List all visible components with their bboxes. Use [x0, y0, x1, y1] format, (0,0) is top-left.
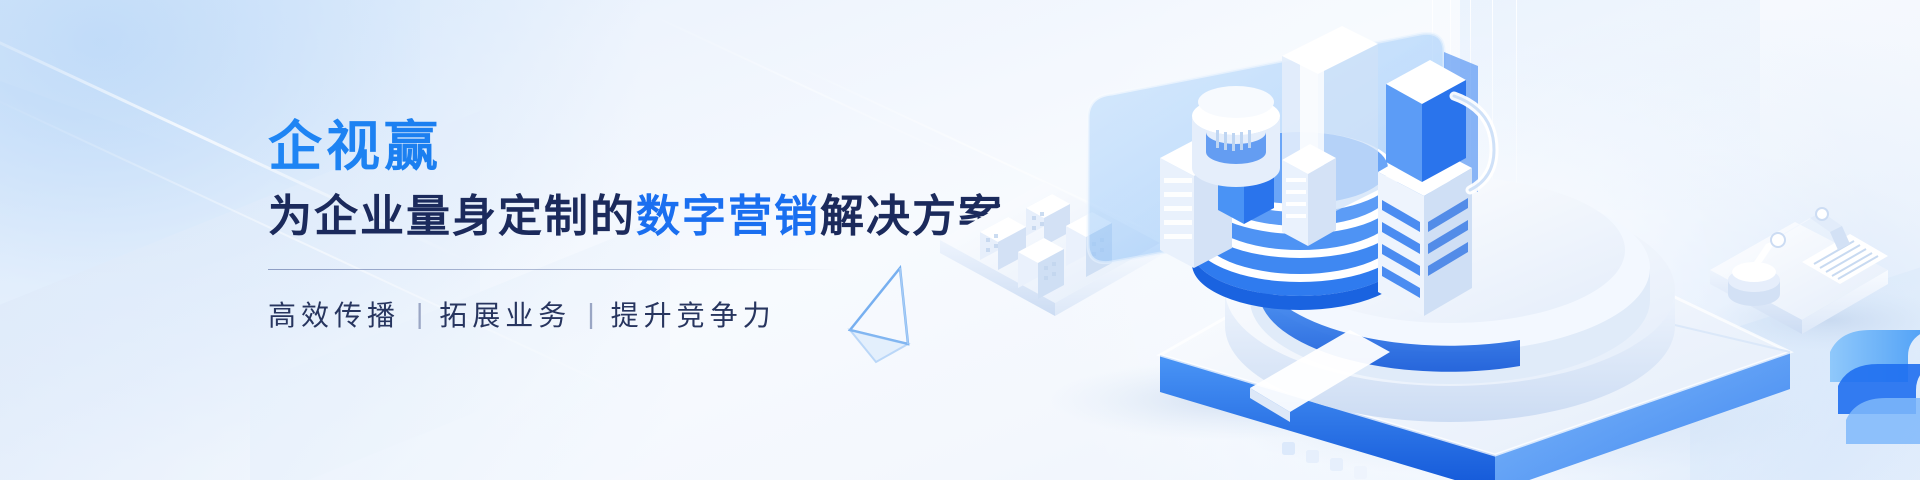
tagline-item-1: 高效传播 — [268, 294, 400, 334]
tower-dome-cylinder — [1192, 86, 1280, 187]
tower-narrow-mid — [1282, 144, 1336, 246]
tagline-separator-2: | — [587, 298, 594, 330]
wireframe-triangle — [850, 268, 908, 362]
tagline-item-2: 拓展业务 — [439, 294, 571, 334]
hero-illustration — [830, 0, 1920, 480]
headline-prefix: 为企业量身定制的 — [268, 192, 636, 241]
hero-banner: 企视赢 为企业量身定制的数字营销解决方案 高效传播 | 拓展业务 | 提升竞争力 — [0, 0, 1920, 480]
paper-sheets-blue — [1830, 330, 1920, 444]
headline-divider — [268, 269, 840, 270]
tagline-separator-1: | — [416, 298, 423, 330]
headline-highlight: 数字营销 — [636, 192, 820, 241]
tagline-item-3: 提升竞争力 — [611, 294, 776, 334]
